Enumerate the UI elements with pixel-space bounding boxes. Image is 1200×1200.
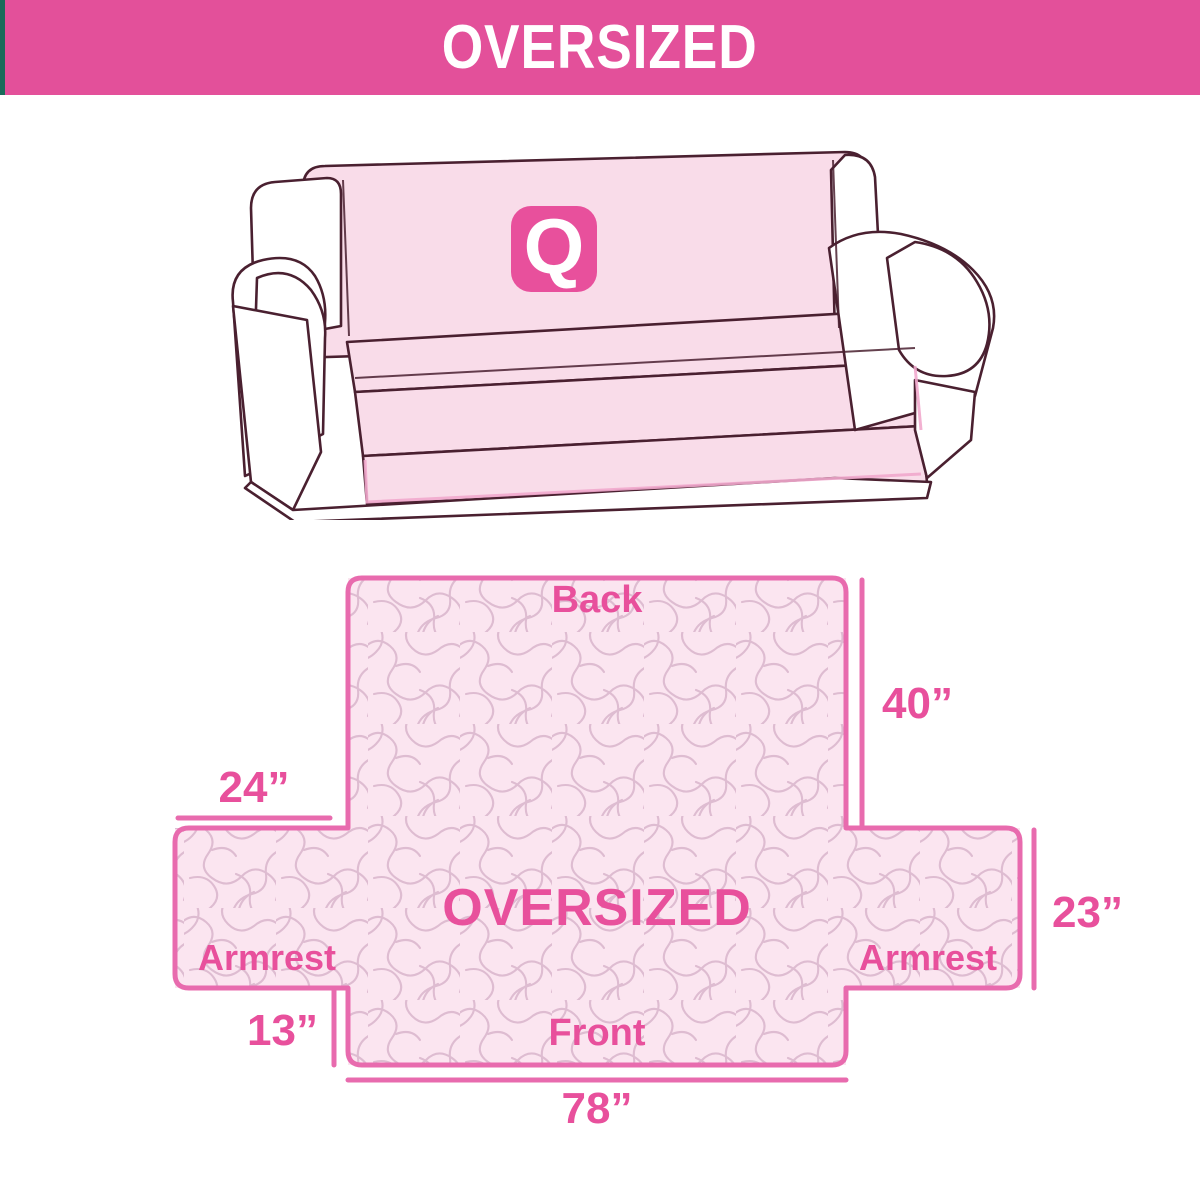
dimension-back-height: 40” [862,580,953,828]
sofa-line-drawing-svg: Q [215,130,1005,520]
panel-label-back: Back [552,579,644,621]
sofa-right-side-panel [915,380,975,478]
header-banner: OVERSIZED [0,0,1200,95]
panel-label-armrest-left: Armrest [198,937,336,978]
sofa-body-group [233,152,995,520]
dimension-value-40: 40” [882,679,953,728]
logo-letter: Q [524,202,585,290]
sofa-illustration: Q [215,130,1005,520]
sofa-left-side-panel [233,306,321,510]
panel-label-front: Front [548,1012,645,1054]
dimension-value-24: 24” [219,763,290,812]
sofa-right-arm-roll [887,242,989,376]
dimension-value-23: 23” [1052,888,1123,937]
dimension-value-78: 78” [562,1084,633,1133]
dimension-front-height: 13” [247,990,334,1065]
dimension-value-13: 13” [247,1006,318,1055]
page-title: OVERSIZED [442,17,758,79]
header-edge-strip [0,0,5,95]
dimension-total-width: 78” [348,1080,846,1133]
panel-label-armrest-right: Armrest [859,937,997,978]
dimension-armrest-width: 24” [178,763,330,818]
dimension-armrest-height: 23” [1034,830,1123,988]
flat-layout-diagram: Back Armrest Armrest Front OVERSIZED 40”… [0,540,1200,1140]
center-size-label: OVERSIZED [442,879,752,937]
product-size-diagram-page: OVERSIZED [0,0,1200,1200]
flat-layout-svg: Back Armrest Armrest Front OVERSIZED 40”… [0,540,1200,1140]
brand-logo-badge: Q [511,202,597,292]
